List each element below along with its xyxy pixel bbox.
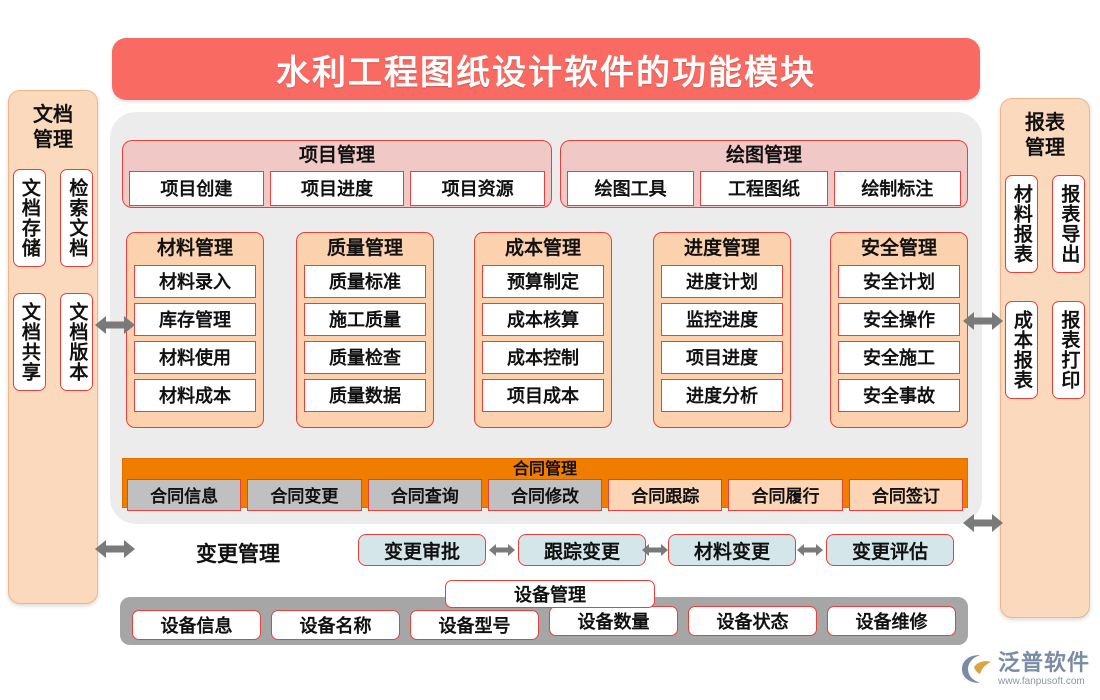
- report-management-title: 报表 管理: [1001, 99, 1089, 161]
- module-item[interactable]: 施工质量: [304, 303, 426, 336]
- module-item[interactable]: 质量标准: [304, 265, 426, 298]
- equipment-item-quantity[interactable]: 设备数量: [549, 606, 678, 636]
- project-management-group[interactable]: 项目管理 项目创建 项目进度 项目资源: [122, 140, 552, 208]
- drawing-item-tools[interactable]: 绘图工具: [567, 171, 694, 206]
- project-management-title: 项目管理: [129, 145, 545, 168]
- module-item[interactable]: 进度计划: [661, 265, 783, 298]
- contract-item-query[interactable]: 合同查询: [368, 479, 482, 511]
- module-item[interactable]: 质量数据: [304, 379, 426, 412]
- doc-item-storage[interactable]: 文档存储: [13, 169, 46, 267]
- drawing-management-title: 绘图管理: [567, 145, 961, 168]
- module-item[interactable]: 安全施工: [838, 341, 960, 374]
- module-material-management[interactable]: 材料管理 材料录入 库存管理 材料使用 材料成本: [126, 232, 264, 428]
- equipment-management-title: 设备管理: [445, 580, 655, 608]
- module-title: 质量管理: [304, 237, 426, 261]
- change-item-tracking[interactable]: 跟踪变更: [518, 534, 646, 566]
- contract-items: 合同信息 合同变更 合同查询 合同修改 合同跟踪 合同履行 合同签订: [127, 479, 963, 511]
- module-quality-management[interactable]: 质量管理 质量标准 施工质量 质量检查 质量数据: [296, 232, 434, 428]
- project-item-progress[interactable]: 项目进度: [270, 171, 405, 206]
- module-item[interactable]: 安全操作: [838, 303, 960, 336]
- contract-item-change[interactable]: 合同变更: [247, 479, 361, 511]
- change-item-material[interactable]: 材料变更: [668, 534, 796, 566]
- doc-item-share[interactable]: 文档共享: [13, 293, 46, 391]
- double-arrow-icon: [963, 310, 1003, 332]
- report-management-panel[interactable]: 报表 管理 材料报表 报表导出 成本报表 报表打印: [1000, 98, 1090, 618]
- double-arrow-icon: [489, 542, 515, 558]
- report-group-1: 材料报表 报表导出: [1001, 175, 1089, 273]
- double-arrow-icon: [963, 512, 1003, 534]
- document-management-panel[interactable]: 文档 管理 文档存储 检索文档 文档共享 文档版本: [8, 90, 98, 604]
- module-item[interactable]: 成本控制: [482, 341, 604, 374]
- drawing-management-items: 绘图工具 工程图纸 绘制标注: [567, 171, 961, 206]
- contract-item-perform[interactable]: 合同履行: [728, 479, 842, 511]
- module-item[interactable]: 材料录入: [134, 265, 256, 298]
- contract-item-sign[interactable]: 合同签订: [849, 479, 963, 511]
- equipment-item-status[interactable]: 设备状态: [688, 606, 817, 636]
- drawing-item-blueprint[interactable]: 工程图纸: [700, 171, 827, 206]
- report-item-export[interactable]: 报表导出: [1052, 175, 1085, 273]
- project-item-create[interactable]: 项目创建: [129, 171, 264, 206]
- module-item[interactable]: 监控进度: [661, 303, 783, 336]
- logo-texts: 泛普软件 www.fanpusoft.com: [998, 652, 1090, 687]
- report-item-cost[interactable]: 成本报表: [1005, 301, 1038, 399]
- document-group-1: 文档存储 检索文档: [9, 169, 97, 267]
- doc-item-version[interactable]: 文档版本: [60, 293, 93, 391]
- module-item[interactable]: 质量检查: [304, 341, 426, 374]
- module-safety-management[interactable]: 安全管理 安全计划 安全操作 安全施工 安全事故: [830, 232, 968, 428]
- module-schedule-management[interactable]: 进度管理 进度计划 监控进度 项目进度 进度分析: [653, 232, 791, 428]
- logo-name: 泛普软件: [998, 652, 1090, 674]
- double-arrow-icon: [797, 542, 823, 558]
- logo-swoosh-icon: [960, 654, 994, 684]
- double-arrow-icon: [95, 538, 135, 560]
- document-management-title: 文档 管理: [9, 91, 97, 153]
- doc-item-search[interactable]: 检索文档: [60, 169, 93, 267]
- equipment-item-model[interactable]: 设备型号: [410, 610, 539, 640]
- module-item[interactable]: 库存管理: [134, 303, 256, 336]
- report-item-material[interactable]: 材料报表: [1005, 175, 1038, 273]
- logo-url: www.fanpusoft.com: [998, 677, 1090, 687]
- module-item[interactable]: 安全计划: [838, 265, 960, 298]
- drawing-item-annotation[interactable]: 绘制标注: [834, 171, 961, 206]
- change-item-assessment[interactable]: 变更评估: [826, 534, 954, 566]
- module-item[interactable]: 安全事故: [838, 379, 960, 412]
- contract-management-title: 合同管理: [127, 459, 963, 478]
- double-arrow-icon: [642, 542, 668, 558]
- double-arrow-icon: [95, 314, 135, 336]
- equipment-item-maintenance[interactable]: 设备维修: [827, 606, 956, 636]
- change-item-approval[interactable]: 变更审批: [358, 534, 486, 566]
- module-item[interactable]: 成本核算: [482, 303, 604, 336]
- module-title: 材料管理: [134, 237, 256, 261]
- module-title: 安全管理: [838, 237, 960, 261]
- report-item-print[interactable]: 报表打印: [1052, 301, 1085, 399]
- module-item[interactable]: 项目成本: [482, 379, 604, 412]
- diagram-canvas: 水利工程图纸设计软件的功能模块 文档 管理 文档存储 检索文档 文档共享 文档版…: [0, 0, 1100, 700]
- contract-management-bar[interactable]: 合同管理 合同信息 合同变更 合同查询 合同修改 合同跟踪 合同履行 合同签订: [122, 458, 968, 508]
- module-cost-management[interactable]: 成本管理 预算制定 成本核算 成本控制 项目成本: [474, 232, 612, 428]
- change-management-label: 变更管理: [196, 538, 280, 568]
- module-item[interactable]: 材料成本: [134, 379, 256, 412]
- page-title: 水利工程图纸设计软件的功能模块: [276, 45, 816, 94]
- contract-item-track[interactable]: 合同跟踪: [608, 479, 722, 511]
- equipment-item-name[interactable]: 设备名称: [271, 610, 400, 640]
- fanpusoft-logo[interactable]: 泛普软件 www.fanpusoft.com: [960, 645, 1094, 693]
- module-item[interactable]: 项目进度: [661, 341, 783, 374]
- module-title: 成本管理: [482, 237, 604, 261]
- project-item-resource[interactable]: 项目资源: [410, 171, 545, 206]
- module-item[interactable]: 进度分析: [661, 379, 783, 412]
- project-management-items: 项目创建 项目进度 项目资源: [129, 171, 545, 206]
- module-item[interactable]: 预算制定: [482, 265, 604, 298]
- drawing-management-group[interactable]: 绘图管理 绘图工具 工程图纸 绘制标注: [560, 140, 968, 208]
- report-group-2: 成本报表 报表打印: [1001, 301, 1089, 399]
- diagram-title-banner: 水利工程图纸设计软件的功能模块: [112, 38, 980, 100]
- contract-item-modify[interactable]: 合同修改: [488, 479, 602, 511]
- document-group-2: 文档共享 文档版本: [9, 293, 97, 391]
- equipment-item-info[interactable]: 设备信息: [132, 610, 261, 640]
- module-title: 进度管理: [661, 237, 783, 261]
- contract-item-info[interactable]: 合同信息: [127, 479, 241, 511]
- module-item[interactable]: 材料使用: [134, 341, 256, 374]
